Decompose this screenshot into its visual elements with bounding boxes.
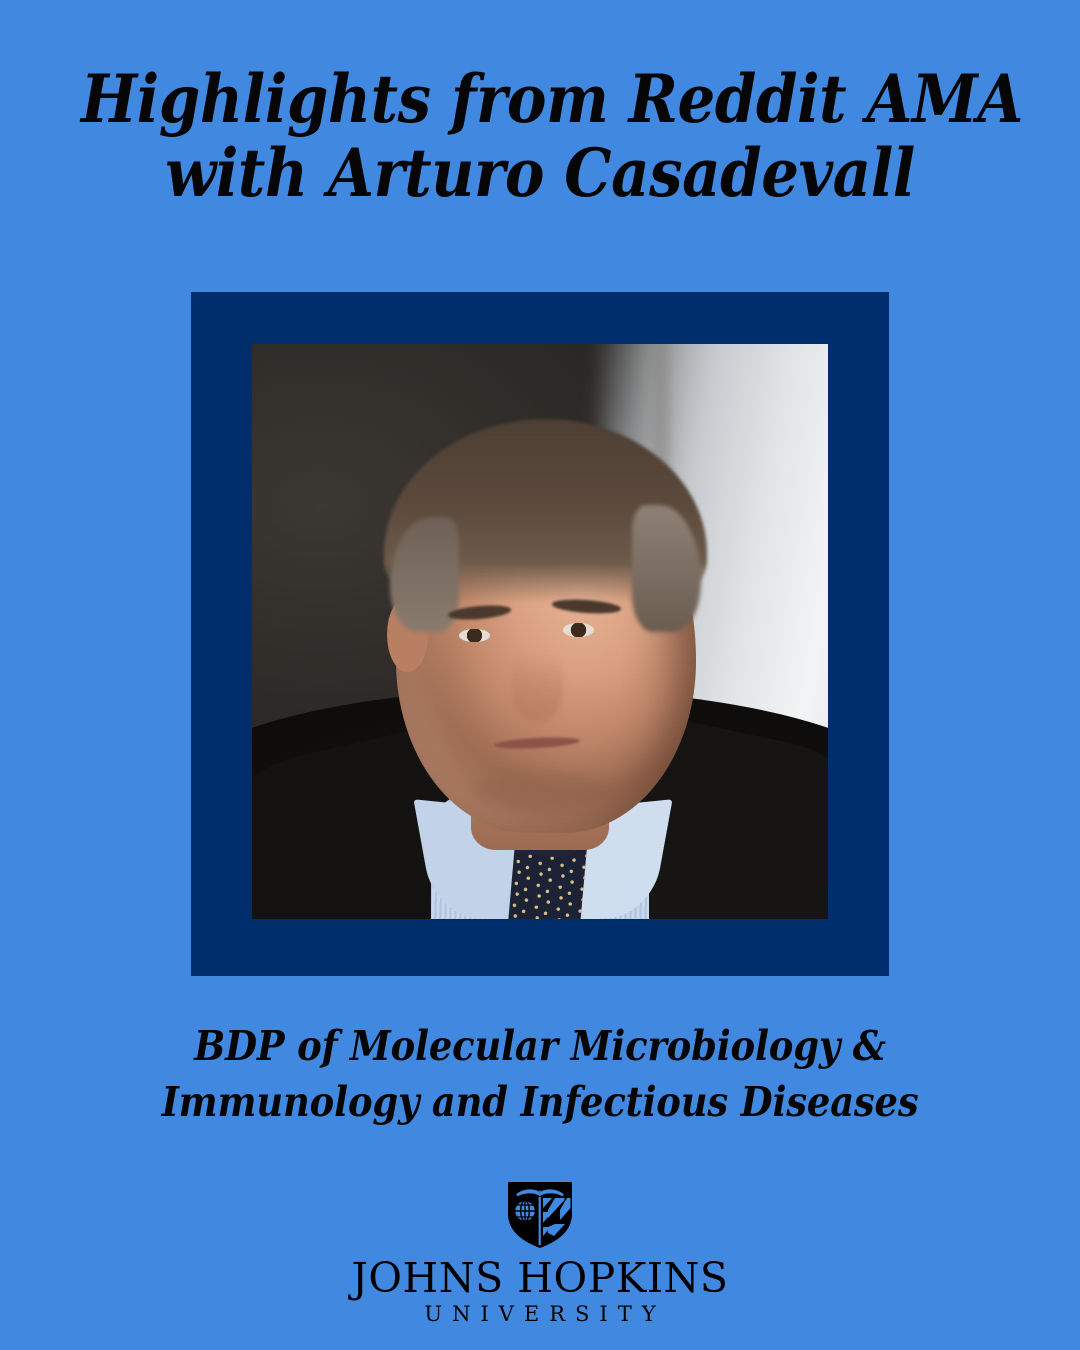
portrait-photo <box>252 344 828 919</box>
subtitle: BDP of Molecular Microbiology & Immunolo… <box>0 1018 1080 1130</box>
jhu-wordmark-university: UNIVERSITY <box>414 1302 665 1326</box>
portrait-eye-right <box>563 623 594 637</box>
title-line-1: Highlights from Reddit AMA <box>81 62 999 136</box>
title-line-2: with Arturo Casadevall <box>81 136 999 210</box>
portrait-nose <box>511 649 563 724</box>
jhu-logo: JOHNS HOPKINS UNIVERSITY <box>0 1178 1080 1326</box>
jhu-shield-icon <box>504 1178 576 1250</box>
subtitle-line-2: Immunology and Infectious Diseases <box>90 1074 990 1130</box>
subtitle-line-1: BDP of Molecular Microbiology & <box>90 1018 990 1074</box>
portrait-frame <box>191 292 889 976</box>
jhu-wordmark: JOHNS HOPKINS <box>351 1256 728 1300</box>
portrait-chin-shadow <box>471 770 603 810</box>
page-title: Highlights from Reddit AMA with Arturo C… <box>0 62 1080 210</box>
ama-highlights-poster: { "poster": { "background_color": "#4189… <box>0 0 1080 1350</box>
